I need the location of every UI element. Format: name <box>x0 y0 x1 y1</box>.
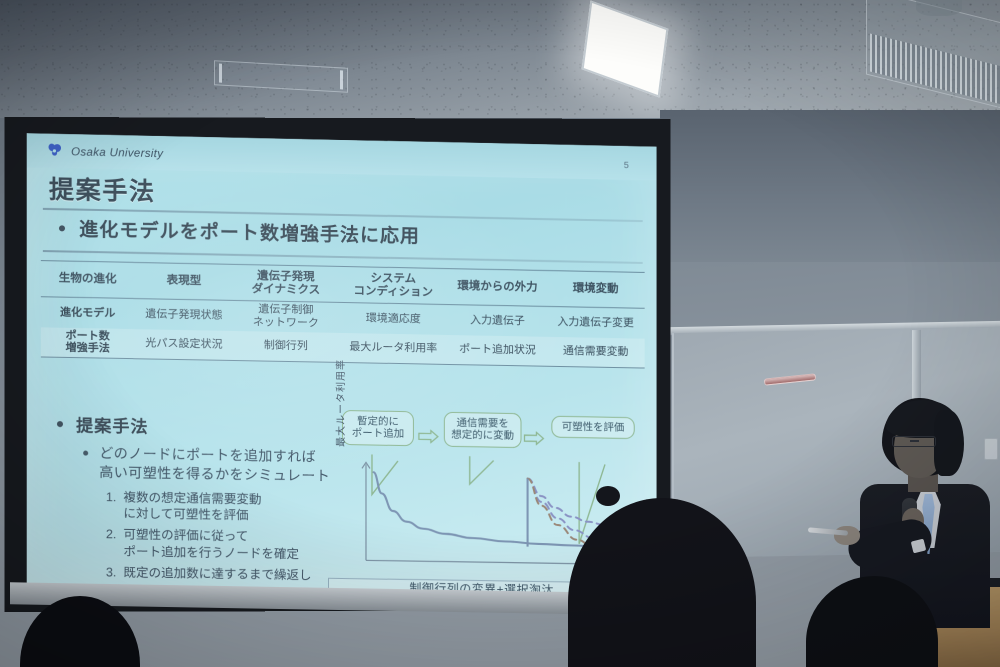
lecture-room: Osaka University 5 提案手法 進化モデルをポート数増強手法に応… <box>0 0 1000 667</box>
table-cell: ポート追加状況 <box>448 334 546 366</box>
section2-sub-text: どのノードにポートを追加すれば高い可塑性を得るかをシミュレート <box>99 444 330 487</box>
table-cell: 最大ルータ利用率 <box>338 332 448 364</box>
table-cell: 光パス設定状況 <box>134 329 233 361</box>
slide-title: 提案手法 <box>49 170 156 208</box>
lead-bullet: 進化モデルをポート数増強手法に応用 <box>59 214 420 248</box>
presenter-hand-holding-pointer <box>834 526 860 545</box>
table-header-cell: 表現型 <box>134 262 233 300</box>
audience-hair-tuft <box>596 486 620 506</box>
step-text: 可塑性の評価に従ってポート追加を行うノードを確定 <box>123 527 299 563</box>
ceiling-pipe <box>916 0 962 16</box>
table-cell: 遺伝子発現状態 <box>134 299 233 331</box>
step-number: 3. <box>101 564 116 581</box>
projection-screen: Osaka University 5 提案手法 進化モデルをポート数増強手法に応… <box>5 117 671 612</box>
callout-evaluate-plasticity: 可塑性を評価 <box>551 416 634 440</box>
proposed-method-section: 提案手法 どのノードにポートを追加すれば高い可塑性を得るかをシミュレート 1.複… <box>57 411 358 585</box>
table-row-label: ポート数増強手法 <box>41 327 135 359</box>
bullet-dot-icon <box>59 225 65 231</box>
table-cell: 入力遺伝子変更 <box>547 306 645 338</box>
table-cell: 通信需要変動 <box>547 336 645 368</box>
table-header-cell: 遺伝子発現ダイナミクス <box>234 264 339 302</box>
slide-page-number: 5 <box>624 160 629 170</box>
list-item: 1.複数の想定通信需要変動に対して可塑性を評価 <box>101 489 358 527</box>
brand-text: Osaka University <box>71 146 163 160</box>
right-wall-upper <box>660 110 1000 262</box>
section2-heading: 提案手法 <box>57 411 358 441</box>
table-cell: 環境適応度 <box>338 302 448 334</box>
presenter-hair-side <box>934 410 964 476</box>
callout-provisional-port-add: 暫定的にポート追加 <box>342 410 414 446</box>
osaka-university-logo-icon <box>45 142 64 161</box>
table-cell: 制御行列 <box>234 330 339 362</box>
brand: Osaka University <box>45 142 163 164</box>
callout-row: 暫定的にポート追加 通信需要を想定的に変動 可塑性を評価 <box>328 408 647 465</box>
presentation-slide: Osaka University 5 提案手法 進化モデルをポート数増強手法に応… <box>27 133 657 597</box>
step-text: 既定の追加数に達するまで繰返し <box>123 564 311 584</box>
section2-sub: どのノードにポートを追加すれば高い可塑性を得るかをシミュレート <box>83 444 358 487</box>
y-axis-label: 最大ルータ利用率 <box>332 350 347 456</box>
section2-heading-text: 提案手法 <box>76 411 148 437</box>
list-item: 2.可塑性の評価に従ってポート追加を行うノードを確定 <box>101 526 358 564</box>
step-number: 2. <box>101 526 116 560</box>
lead-bullet-text: 進化モデルをポート数増強手法に応用 <box>79 215 420 249</box>
table-cell: 遺伝子制御ネットワーク <box>234 300 339 332</box>
sub-bullet-dot-icon <box>83 451 88 456</box>
step-text: 複数の想定通信需要変動に対して可塑性を評価 <box>123 489 261 525</box>
table-header-cell: 環境からの外力 <box>448 269 546 307</box>
table-row-label: 進化モデル <box>41 297 135 329</box>
table-header-cell: 生物の進化 <box>41 261 135 299</box>
presenter-glasses-icon <box>892 436 936 447</box>
step-number: 1. <box>101 489 116 523</box>
table-header-cell: システムコンディション <box>338 266 448 304</box>
table-header-cell: 環境変動 <box>547 271 645 309</box>
arrow-right-icon-2 <box>523 431 545 445</box>
arrow-right-icon-1 <box>418 429 440 443</box>
list-item: 3.既定の追加数に達するまで繰返し <box>101 564 358 585</box>
numbered-step-list: 1.複数の想定通信需要変動に対して可塑性を評価2.可塑性の評価に従ってポート追加… <box>101 489 358 585</box>
bullet-dot-icon <box>57 420 63 426</box>
table-cell: 入力遺伝子 <box>448 305 546 337</box>
callout-traffic-demand-change: 通信需要を想定的に変動 <box>444 412 522 448</box>
